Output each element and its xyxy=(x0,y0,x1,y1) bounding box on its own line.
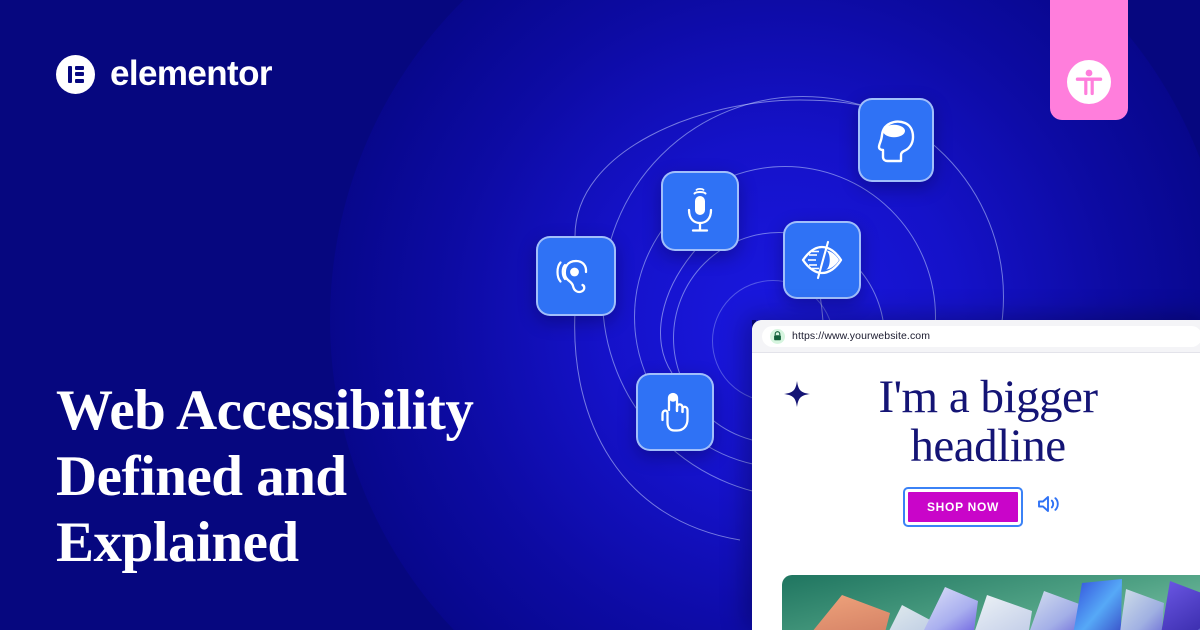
website-hero-section: I'm a bigger headline SHOP NOW xyxy=(752,353,1200,539)
eye-slash-icon xyxy=(799,240,845,280)
page-title: Web Accessibility Defined and Explained xyxy=(56,378,596,576)
website-headline-line-2: headline xyxy=(804,422,1172,471)
ear-sound-waves-icon xyxy=(554,254,598,298)
banner-canvas: elementor Web Accessibility Defined and … xyxy=(0,0,1200,630)
feature-tile-vision[interactable] xyxy=(783,221,861,299)
elementor-mark-icon xyxy=(56,55,95,94)
logo-bar-top xyxy=(75,66,84,70)
website-preview: I'm a bigger headline SHOP NOW xyxy=(752,353,1200,630)
four-point-star-icon xyxy=(784,381,810,412)
browser-chrome: https://www.yourwebsite.com xyxy=(752,320,1200,353)
website-hero-image xyxy=(782,575,1200,630)
address-bar[interactable]: https://www.yourwebsite.com xyxy=(762,326,1200,347)
feature-tile-cognitive[interactable] xyxy=(858,98,934,182)
browser-window: https://www.yourwebsite.com I'm a bigger… xyxy=(752,320,1200,630)
accessibility-person-icon xyxy=(1074,67,1104,97)
head-brain-icon xyxy=(875,117,917,163)
feature-tile-speech[interactable] xyxy=(661,171,739,251)
address-bar-url: https://www.yourwebsite.com xyxy=(792,330,930,342)
page-title-line-2: Defined and xyxy=(56,444,596,510)
brand-name: elementor xyxy=(110,54,272,94)
feature-tile-hearing[interactable] xyxy=(536,236,616,316)
website-cta-row: SHOP NOW xyxy=(752,487,1200,527)
page-title-line-1: Web Accessibility xyxy=(56,378,596,444)
page-title-line-3: Explained xyxy=(56,510,596,576)
hand-tap-icon xyxy=(656,389,694,435)
website-headline-line-1: I'm a bigger xyxy=(804,373,1172,422)
logo-bar-middle xyxy=(75,72,84,76)
logo-bar-bottom xyxy=(75,79,84,83)
feature-tile-motor[interactable] xyxy=(636,373,714,451)
speaker-volume-icon[interactable] xyxy=(1037,494,1061,519)
logo-bar-vertical xyxy=(68,66,72,83)
microphone-icon xyxy=(682,188,718,234)
shop-now-focus-ring: SHOP NOW xyxy=(903,487,1023,527)
accessibility-widget-circle xyxy=(1067,60,1111,104)
website-headline: I'm a bigger headline xyxy=(804,373,1172,471)
elementor-logo[interactable]: elementor xyxy=(56,54,272,94)
padlock-icon xyxy=(770,329,785,344)
shop-now-button[interactable]: SHOP NOW xyxy=(908,492,1018,522)
accessibility-widget-button[interactable] xyxy=(1050,0,1128,120)
